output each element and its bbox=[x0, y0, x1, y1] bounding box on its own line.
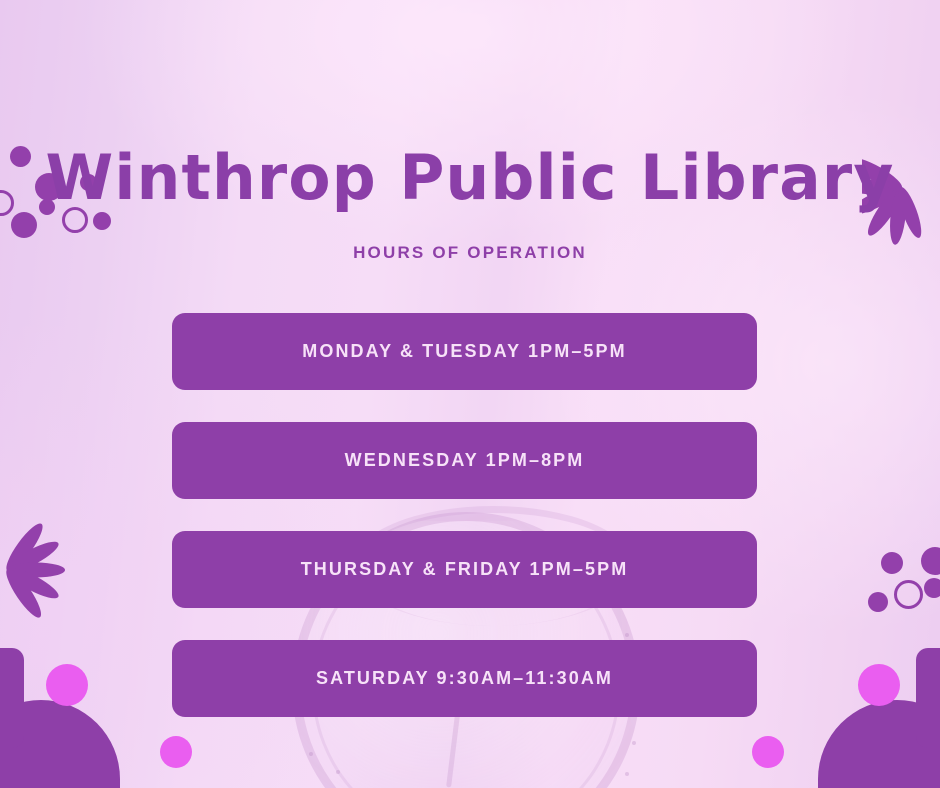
purple-dot-icon bbox=[924, 578, 940, 598]
page-title: Winthrop Public Library bbox=[5, 142, 936, 214]
rounded-bar-stub-right bbox=[916, 648, 940, 748]
starburst-icon-left bbox=[0, 506, 74, 634]
hours-row: SATURDAY 9:30AM–11:30AM bbox=[172, 640, 757, 717]
purple-ring-icon bbox=[894, 580, 923, 609]
hours-row-label: SATURDAY 9:30AM–11:30AM bbox=[316, 668, 613, 689]
watermark-speck-icon bbox=[632, 741, 636, 745]
hours-list: MONDAY & TUESDAY 1PM–5PM WEDNESDAY 1PM–8… bbox=[172, 313, 757, 717]
purple-dot-icon bbox=[881, 552, 903, 574]
watermark-speck-icon bbox=[336, 770, 340, 774]
magenta-dot-icon bbox=[160, 736, 192, 768]
hours-row: THURSDAY & FRIDAY 1PM–5PM bbox=[172, 531, 757, 608]
page-subtitle: HOURS OF OPERATION bbox=[0, 243, 940, 263]
hours-row-label: MONDAY & TUESDAY 1PM–5PM bbox=[302, 341, 627, 362]
magenta-dot-icon bbox=[752, 736, 784, 768]
purple-dot-icon bbox=[93, 212, 111, 230]
watermark-speck-icon bbox=[625, 772, 629, 776]
magenta-dot-icon bbox=[858, 664, 900, 706]
hours-row-label: WEDNESDAY 1PM–8PM bbox=[345, 450, 585, 471]
purple-dot-icon bbox=[868, 592, 888, 612]
rounded-bar-stub-left bbox=[0, 648, 24, 748]
magenta-dot-icon bbox=[46, 664, 88, 706]
poster-canvas: Winthrop Public Library HOURS OF OPERATI… bbox=[0, 0, 940, 788]
hours-row: MONDAY & TUESDAY 1PM–5PM bbox=[172, 313, 757, 390]
hours-row: WEDNESDAY 1PM–8PM bbox=[172, 422, 757, 499]
hours-row-label: THURSDAY & FRIDAY 1PM–5PM bbox=[301, 559, 629, 580]
purple-dot-icon bbox=[11, 212, 37, 238]
watermark-speck-icon bbox=[309, 752, 313, 756]
